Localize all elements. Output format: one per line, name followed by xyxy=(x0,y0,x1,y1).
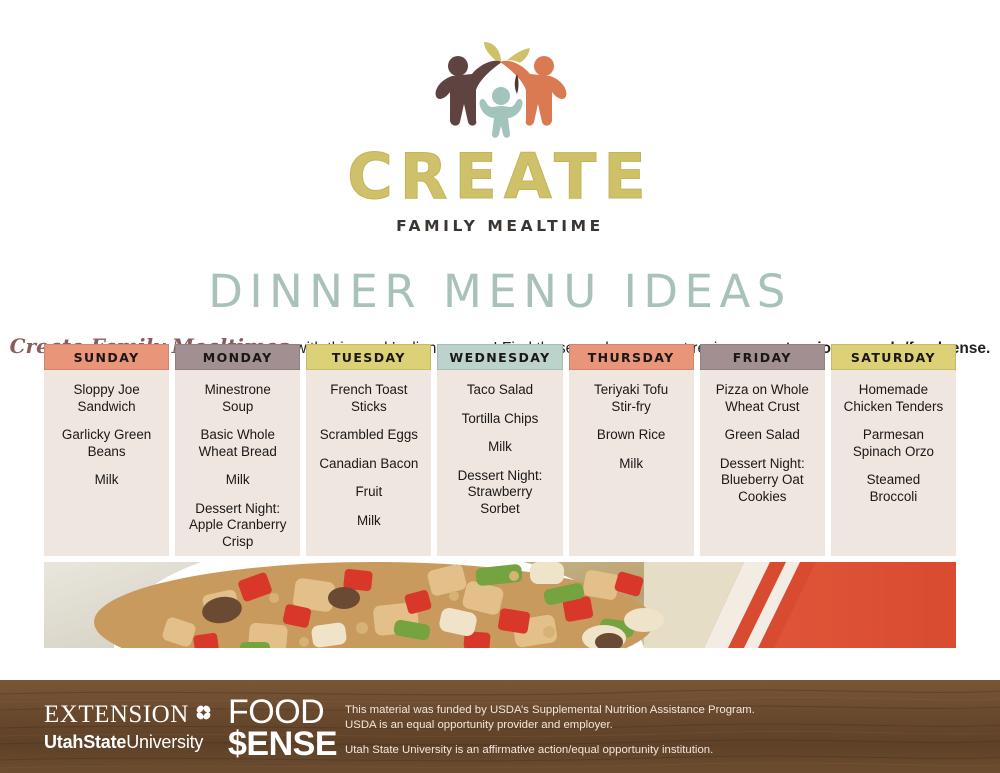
menu-item: ParmesanSpinach Orzo xyxy=(836,427,951,460)
day-header-tuesday: TUESDAY xyxy=(306,344,431,370)
legal-disclaimer: This material was funded by USDA’s Suppl… xyxy=(345,703,755,758)
university-wordmark: UtahStateUniversity xyxy=(44,733,213,751)
day-items-tuesday: French ToastSticksScrambled EggsCanadian… xyxy=(306,370,431,556)
menu-item: French ToastSticks xyxy=(311,382,426,415)
menu-item: SteamedBroccoli xyxy=(836,472,951,505)
day-items-sunday: Sloppy JoeSandwichGarlicky GreenBeansMil… xyxy=(44,370,169,556)
day-header-wednesday: WEDNESDAY xyxy=(437,344,562,370)
menu-item: Tortilla Chips xyxy=(442,411,557,428)
menu-item: Green Salad xyxy=(705,427,820,444)
legal-line-1: This material was funded by USDA’s Suppl… xyxy=(345,703,755,718)
menu-item: Garlicky GreenBeans xyxy=(49,427,164,460)
day-header-sunday: SUNDAY xyxy=(44,344,169,370)
brand-logo: CREATE FAMILY MEALTIME xyxy=(0,0,1000,235)
day-header-saturday: SATURDAY xyxy=(831,344,956,370)
page-title: DINNER MENU IDEAS xyxy=(0,269,1000,314)
logo-wordmark: CREATE xyxy=(347,146,652,208)
day-column-tuesday: TUESDAYFrench ToastSticksScrambled EggsC… xyxy=(306,344,431,556)
subtitle-period: . xyxy=(986,340,990,357)
menu-item: Canadian Bacon xyxy=(311,456,426,473)
menu-item: MinestroneSoup xyxy=(180,382,295,415)
legal-line-2: USDA is an equal opportunity provider an… xyxy=(345,718,755,733)
weekly-menu-table: SUNDAYSloppy JoeSandwichGarlicky GreenBe… xyxy=(44,344,956,556)
people-around-apple-icon xyxy=(418,34,583,144)
menu-item: Dessert Night:Blueberry OatCookies xyxy=(705,456,820,506)
menu-item: Dessert Night:Apple CranberryCrisp xyxy=(180,501,295,551)
legal-line-3: Utah State University is an affirmative … xyxy=(345,743,755,758)
day-items-monday: MinestroneSoupBasic WholeWheat BreadMilk… xyxy=(175,370,300,556)
menu-item: Brown Rice xyxy=(574,427,689,444)
menu-item: Sloppy JoeSandwich xyxy=(49,382,164,415)
menu-item: Basic WholeWheat Bread xyxy=(180,427,295,460)
menu-item: Fruit xyxy=(311,484,426,501)
food-sense-line1: FOOD xyxy=(228,697,337,729)
menu-item: Scrambled Eggs xyxy=(311,427,426,444)
day-column-monday: MONDAYMinestroneSoupBasic WholeWheat Bre… xyxy=(175,344,300,556)
day-header-friday: FRIDAY xyxy=(700,344,825,370)
day-column-saturday: SATURDAYHomemadeChicken TendersParmesanS… xyxy=(831,344,956,556)
food-sense-logo: FOOD $ENSE xyxy=(228,697,337,760)
four-leaf-clover-icon xyxy=(194,702,213,727)
menu-item: Taco Salad xyxy=(442,382,557,399)
day-items-saturday: HomemadeChicken TendersParmesanSpinach O… xyxy=(831,370,956,556)
day-items-wednesday: Taco SaladTortilla ChipsMilkDessert Nigh… xyxy=(437,370,562,556)
extension-wordmark-row: EXTENSION xyxy=(44,702,213,727)
menu-item: Dessert Night:StrawberrySorbet xyxy=(442,468,557,518)
day-header-monday: MONDAY xyxy=(175,344,300,370)
menu-item: HomemadeChicken Tenders xyxy=(836,382,951,415)
university-name-light: University xyxy=(126,732,203,752)
logo-tagline: FAMILY MEALTIME xyxy=(396,217,604,235)
day-column-friday: FRIDAYPizza on WholeWheat CrustGreen Sal… xyxy=(700,344,825,556)
day-column-thursday: THURSDAYTeriyaki TofuStir-fryBrown RiceM… xyxy=(569,344,694,556)
day-items-thursday: Teriyaki TofuStir-fryBrown RiceMilk xyxy=(569,370,694,556)
day-items-friday: Pizza on WholeWheat CrustGreen SaladDess… xyxy=(700,370,825,556)
menu-item: Milk xyxy=(574,456,689,473)
menu-item: Milk xyxy=(311,513,426,530)
menu-item: Milk xyxy=(49,472,164,489)
extension-wordmark: EXTENSION xyxy=(44,702,189,727)
day-column-sunday: SUNDAYSloppy JoeSandwichGarlicky GreenBe… xyxy=(44,344,169,556)
extension-logo: EXTENSION UtahStateUniversity xyxy=(44,702,213,751)
day-header-thursday: THURSDAY xyxy=(569,344,694,370)
menu-item: Milk xyxy=(442,439,557,456)
menu-item: Pizza on WholeWheat Crust xyxy=(705,382,820,415)
menu-item: Milk xyxy=(180,472,295,489)
food-sense-line2: $ENSE xyxy=(228,729,337,761)
menu-item: Teriyaki TofuStir-fry xyxy=(574,382,689,415)
day-column-wednesday: WEDNESDAYTaco SaladTortilla ChipsMilkDes… xyxy=(437,344,562,556)
stir-fry-photo-banner xyxy=(44,562,956,648)
university-name-bold: UtahState xyxy=(44,732,126,752)
